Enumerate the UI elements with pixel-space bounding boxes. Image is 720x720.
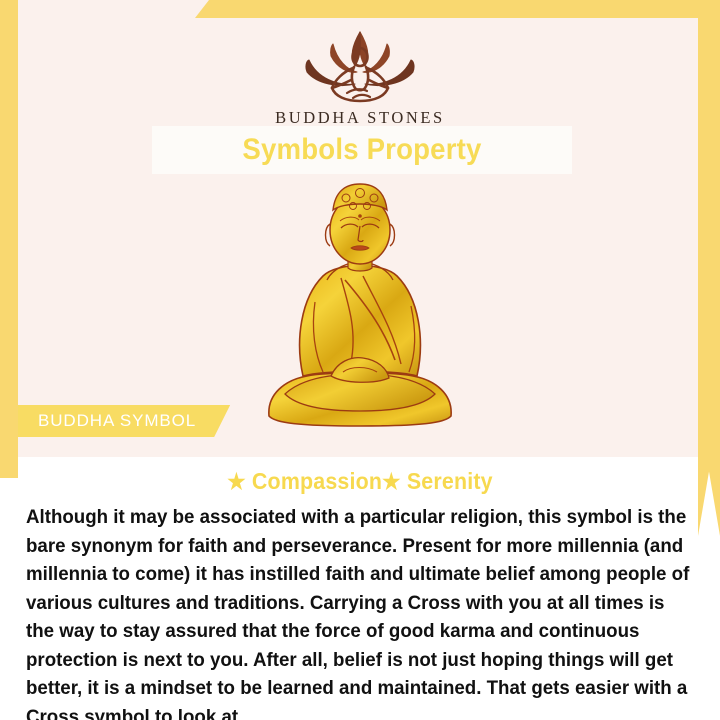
- brand-name: BUDDHA STONES: [0, 108, 720, 128]
- content-subtitle: ★ Compassion★ Serenity: [25, 468, 695, 495]
- content-paragraph: Although it may be associated with a par…: [26, 503, 692, 720]
- category-badge-label: BUDDHA SYMBOL: [38, 411, 196, 431]
- infographic-poster: BUDDHA STONES Symbols Property: [0, 0, 720, 720]
- golden-seated-buddha-statue: [245, 180, 475, 430]
- lotus-meditation-icon: [275, 26, 445, 104]
- brand-logo: BUDDHA STONES: [0, 26, 720, 128]
- content-section: ★ Compassion★ Serenity Although it may b…: [0, 457, 720, 720]
- star-icon-1: ★: [227, 469, 246, 494]
- subtitle-word-compassion: Compassion: [246, 468, 382, 494]
- decoration-top-band: [195, 0, 720, 18]
- subtitle-word-serenity: Serenity: [401, 468, 493, 494]
- title-banner: Symbols Property: [152, 126, 572, 174]
- hero-image: [0, 178, 720, 430]
- star-icon-2: ★: [382, 469, 401, 494]
- page-title: Symbols Property: [242, 133, 481, 167]
- category-badge: BUDDHA SYMBOL: [18, 405, 230, 437]
